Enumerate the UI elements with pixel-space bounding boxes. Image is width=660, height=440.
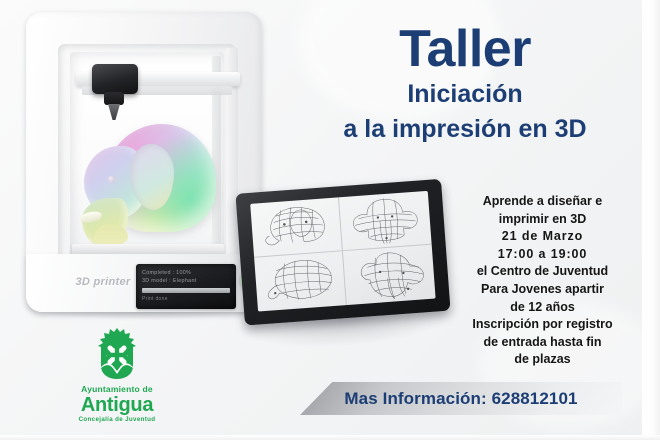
poster-canvas: 3D printer Completed : 100% 3D model : E…	[0, 0, 660, 440]
elephant-wireframe-icon	[343, 245, 436, 305]
poster-subtitle-line-1: Iniciación	[300, 76, 630, 112]
details-line: imprimir en 3D	[455, 211, 630, 229]
details-age: de 12 años	[455, 299, 630, 317]
poster-subtitle-line-2: a la impresión en 3D	[300, 112, 630, 146]
details-line: Inscripción por registro	[455, 316, 630, 334]
tablet-bezel	[235, 179, 450, 326]
details-line: de plazas	[455, 351, 630, 369]
details-date: 21 de Marzo	[455, 228, 630, 246]
logo-line-2: Antigua	[52, 394, 182, 416]
tablet-screen	[250, 191, 435, 312]
lcd-footer-text: Print done	[142, 296, 230, 302]
logo-line-1: Ayuntamiento de	[52, 384, 182, 394]
lcd-status-line-2: 3D model : Elephant	[142, 277, 230, 285]
elephant-wireframe-icon	[254, 251, 346, 311]
tablet-illustration	[235, 179, 456, 354]
3d-printer-illustration: 3D printer Completed : 100% 3D model : E…	[16, 8, 278, 320]
logo-line-3: Concejalía de Juventud	[52, 416, 182, 423]
rainbow-elephant-model	[78, 120, 222, 254]
details-line: Aprende a diseñar e	[455, 193, 630, 211]
details-block: Aprende a diseñar e imprimir en 3D 21 de…	[455, 193, 630, 369]
printer-brand-label: 3D printer	[60, 276, 146, 288]
antigua-shield-icon	[95, 328, 139, 380]
printer-extruder-head	[92, 64, 138, 94]
lcd-progress-bar	[142, 288, 230, 293]
title-block: Taller Iniciación a la impresión en 3D	[300, 22, 630, 146]
printer-lcd-screen: Completed : 100% 3D model : Elephant Pri…	[136, 264, 236, 309]
right-edge-gutter	[642, 0, 660, 440]
elephant-trunk-tip	[94, 224, 128, 246]
lcd-status-line-1: Completed : 100%	[142, 269, 230, 277]
contact-info: Mas Información: 628812101	[300, 382, 622, 415]
printer-extruder-neck	[104, 92, 124, 105]
elephant-wireframe-icon	[250, 197, 342, 256]
shield-crown-icon	[95, 328, 139, 380]
bottom-edge-gutter	[0, 435, 660, 440]
antigua-logo: Ayuntamiento de Antigua Concejalía de Ju…	[52, 328, 182, 423]
details-time: 17:00 a 19:00	[455, 246, 630, 264]
viewport-perspective-view	[343, 245, 436, 305]
details-venue: el Centro de Juventud	[455, 263, 630, 281]
details-line: de entrada hasta fin	[455, 334, 630, 352]
elephant-eye	[108, 176, 115, 183]
viewport-left-view	[250, 197, 343, 257]
details-line: Para Jovenes apartir	[455, 281, 630, 299]
poster-title: Taller	[300, 22, 630, 76]
viewport-front-view	[339, 191, 432, 251]
viewport-top-view	[254, 251, 347, 311]
elephant-wireframe-icon	[339, 191, 432, 250]
